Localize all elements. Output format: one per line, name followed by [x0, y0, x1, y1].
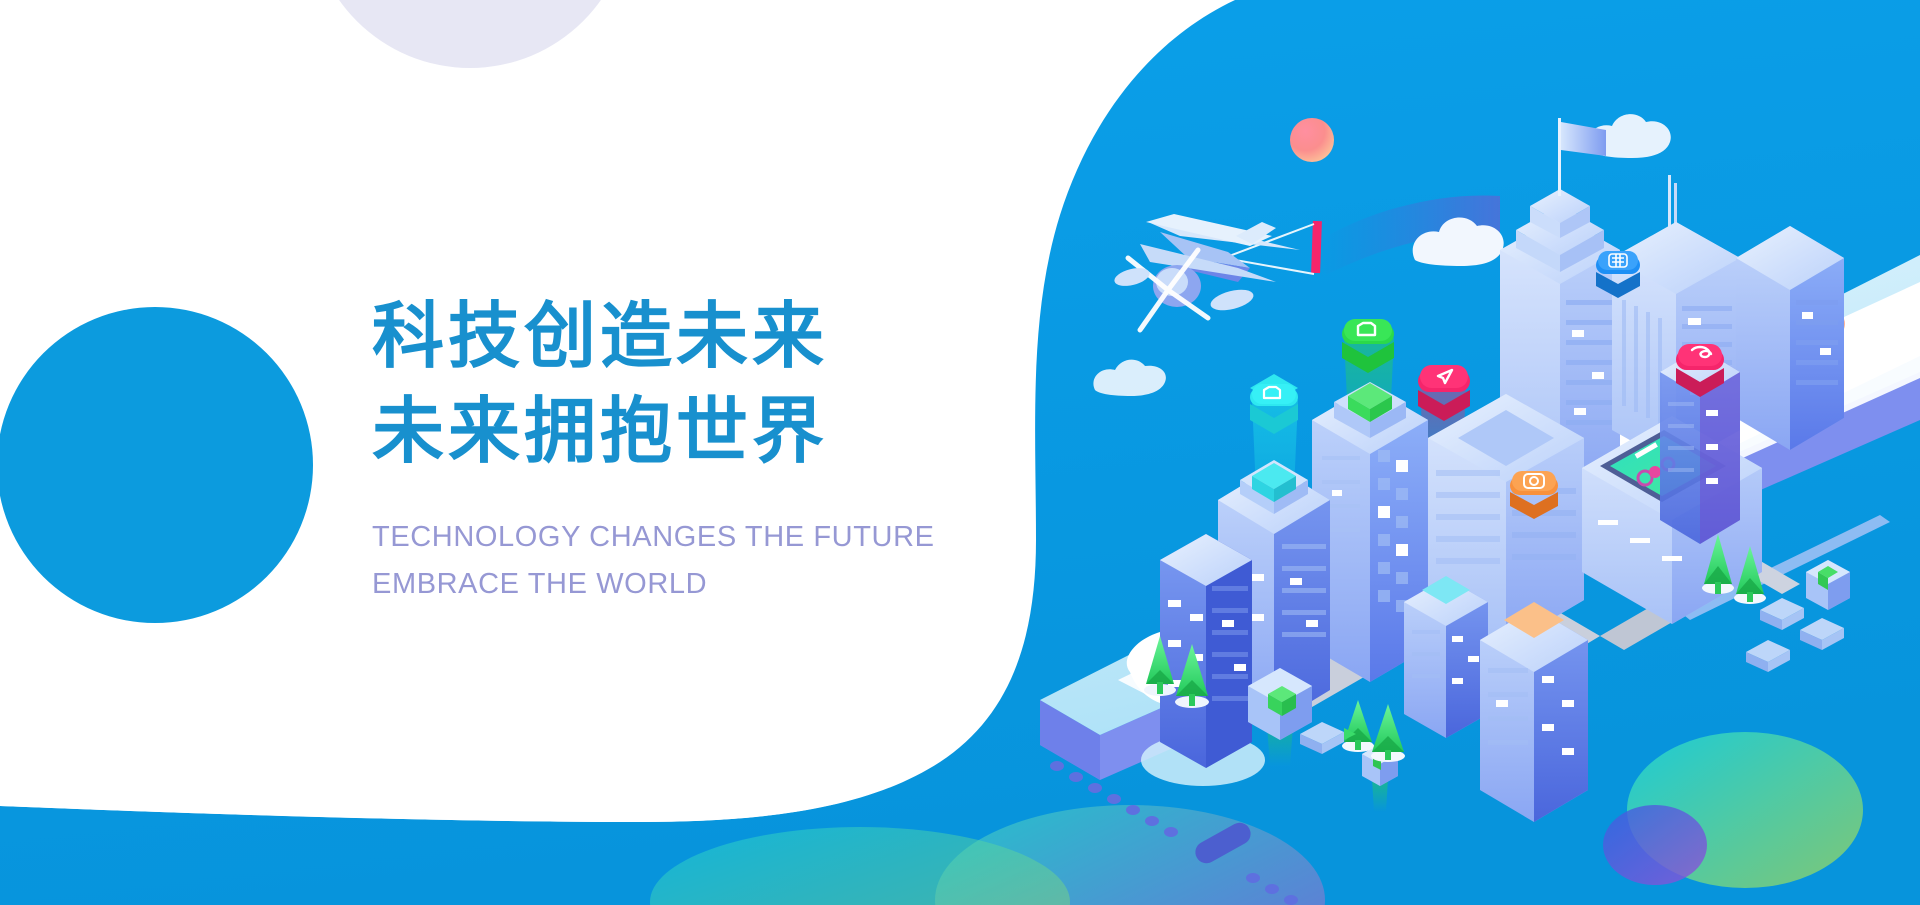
- building-small-cyan-cap: [1404, 576, 1488, 738]
- building-orange-marker-tower: [1480, 602, 1588, 822]
- building-front-left: [1160, 534, 1252, 768]
- headline-line-1: 科技创造未来: [372, 290, 1072, 385]
- building-pink-marker-tower: [1660, 348, 1740, 544]
- balloon-sphere-large: [1290, 118, 1334, 162]
- subheadline-line-2: EMBRACE THE WORLD: [372, 561, 1072, 608]
- building-right-tall: [1736, 226, 1844, 450]
- headline-line-2: 未来拥抱世界: [372, 385, 1072, 480]
- subheadline-line-1: TECHNOLOGY CHANGES THE FUTURE: [372, 514, 1072, 561]
- subheadline-block: TECHNOLOGY CHANGES THE FUTURE EMBRACE TH…: [372, 514, 1072, 608]
- hero-banner: 科技创造未来 未来拥抱世界 TECHNOLOGY CHANGES THE FUT…: [0, 0, 1920, 905]
- banner-copy: 科技创造未来 未来拥抱世界 TECHNOLOGY CHANGES THE FUT…: [372, 290, 1072, 608]
- decorative-circle-blue-fg: [0, 307, 313, 623]
